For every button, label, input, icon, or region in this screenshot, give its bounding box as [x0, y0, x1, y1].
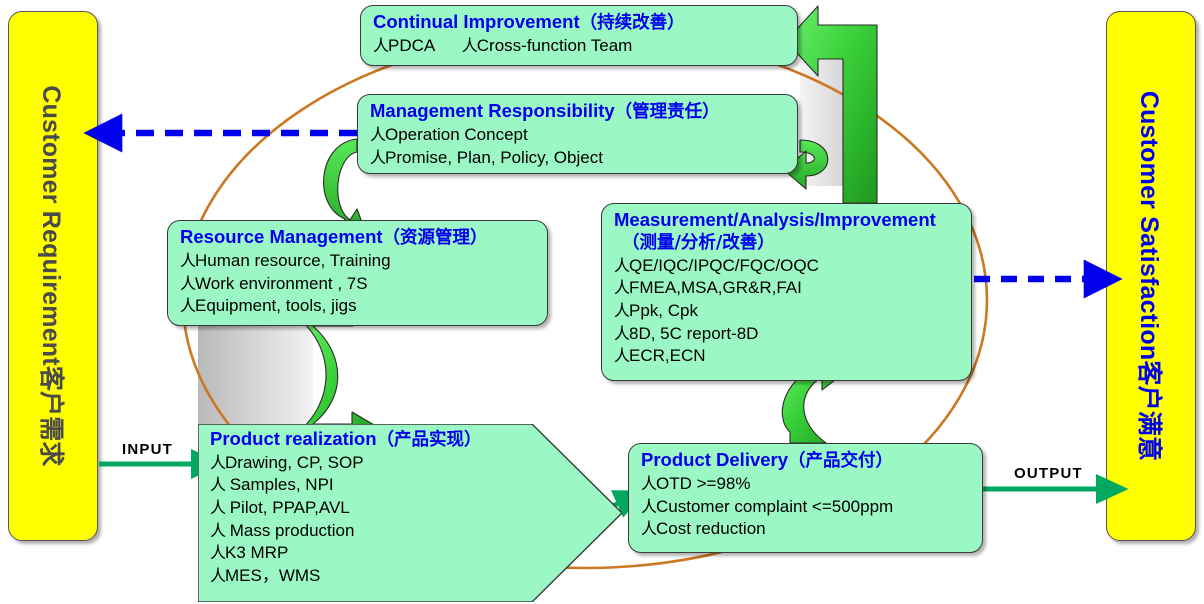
person-icon: 人 [370, 124, 385, 145]
list-item: 人Promise, Plan, Policy, Object [370, 147, 787, 170]
list-item: 人Work environment , 7S [180, 273, 537, 296]
input-label: INPUT [122, 441, 173, 458]
person-icon: 人 [210, 474, 225, 495]
box-title-cn: （测量/分析/改善） [614, 232, 961, 254]
list-item: 人 Mass production [210, 520, 482, 543]
box-items: 人PDCA 人Cross-function Team [373, 35, 787, 58]
list-item: 人Human resource, Training [180, 250, 537, 273]
box-items: 人Human resource, Training 人Work environm… [180, 250, 537, 318]
box-title: Product realization（产品实现） [210, 427, 482, 452]
person-icon: 人 [614, 255, 629, 276]
box-product-realization[interactable]: Product realization（产品实现） 人Drawing, CP, … [198, 424, 622, 602]
box-items: 人OTD >=98% 人Customer complaint <=500ppm … [641, 473, 972, 541]
list-item: 人FMEA,MSA,GR&R,FAI [614, 277, 961, 300]
list-item: 人QE/IQC/IPQC/FQC/OQC [614, 255, 961, 278]
box-measurement-analysis-improvement[interactable]: Measurement/Analysis/Improvement （测量/分析/… [601, 203, 972, 381]
box-title: Management Responsibility（管理责任） [370, 99, 787, 124]
box-title: Measurement/Analysis/Improvement [614, 208, 961, 232]
person-icon: 人 [641, 473, 656, 494]
person-icon: 人 [614, 345, 629, 366]
list-item: 人OTD >=98% [641, 473, 972, 496]
person-icon: 人 [180, 273, 195, 294]
person-icon: 人 [210, 542, 225, 563]
person-icon: 人 [614, 277, 629, 298]
list-item: 人ECR,ECN [614, 345, 961, 368]
box-items: 人QE/IQC/IPQC/FQC/OQC 人FMEA,MSA,GR&R,FAI … [614, 255, 961, 368]
box-title: Product Delivery（产品交付） [641, 448, 972, 473]
person-icon: 人 [641, 496, 656, 517]
box-items: 人Drawing, CP, SOP 人 Samples, NPI 人 Pilot… [210, 452, 482, 588]
box-title: Continual Improvement（持续改善） [373, 10, 787, 35]
list-item: 人Drawing, CP, SOP [210, 452, 482, 475]
diagram-canvas: Customer Requirement客户需求 Customer Satisf… [0, 0, 1204, 604]
list-item: 人MES，WMS [210, 565, 482, 588]
box-items: 人Operation Concept 人Promise, Plan, Polic… [370, 124, 787, 169]
person-icon: 人 [180, 250, 195, 271]
person-icon: 人 [210, 565, 225, 586]
output-label: OUTPUT [1014, 465, 1083, 482]
list-item: 人PDCA 人Cross-function Team [373, 35, 787, 58]
box-content: Product realization（产品实现） 人Drawing, CP, … [210, 427, 482, 587]
person-icon: 人 [210, 497, 225, 518]
list-item: 人8D, 5C report-8D [614, 323, 961, 346]
list-item: 人 Samples, NPI [210, 474, 482, 497]
box-title: Resource Management（资源管理） [180, 225, 537, 250]
box-resource-management[interactable]: Resource Management（资源管理） 人Human resourc… [167, 220, 548, 326]
person-icon: 人 [210, 520, 225, 541]
box-management-responsibility[interactable]: Management Responsibility（管理责任） 人Operati… [357, 94, 798, 174]
list-item: 人Operation Concept [370, 124, 787, 147]
person-icon: 人 [641, 518, 656, 539]
list-item: 人Cost reduction [641, 518, 972, 541]
person-icon: 人 [370, 147, 385, 168]
list-item: 人K3 MRP [210, 542, 482, 565]
person-icon: 人 [180, 295, 195, 316]
person-icon: 人 [614, 300, 629, 321]
list-item: 人Customer complaint <=500ppm [641, 496, 972, 519]
list-item: 人Ppk, Cpk [614, 300, 961, 323]
list-item: 人 Pilot, PPAP,AVL [210, 497, 482, 520]
list-item: 人Equipment, tools, jigs [180, 295, 537, 318]
person-icon: 人 [210, 452, 225, 473]
person-icon: 人 [462, 35, 477, 56]
person-icon: 人 [373, 35, 388, 56]
person-icon: 人 [614, 323, 629, 344]
box-product-delivery[interactable]: Product Delivery（产品交付） 人OTD >=98% 人Custo… [628, 443, 983, 553]
box-continual-improvement[interactable]: Continual Improvement（持续改善） 人PDCA 人Cross… [360, 5, 798, 66]
